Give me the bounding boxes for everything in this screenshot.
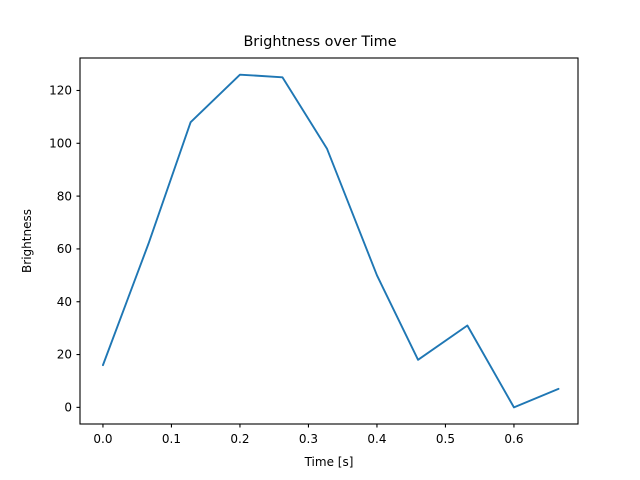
y-axis-label: Brightness — [20, 209, 34, 273]
x-tick-label: 0.0 — [93, 432, 112, 446]
x-tick-label: 0.2 — [230, 432, 249, 446]
x-tick-label: 0.3 — [299, 432, 318, 446]
x-tick-label: 0.1 — [162, 432, 181, 446]
brightness-over-time-chart: Brightness over Time 0.00.10.20.30.40.50… — [0, 0, 640, 480]
y-tick-label: 100 — [49, 136, 72, 150]
y-tick-label: 80 — [57, 189, 72, 203]
x-axis-label: Time [s] — [304, 455, 354, 469]
y-tick-label: 0 — [64, 401, 72, 415]
figure-canvas: Brightness over Time 0.00.10.20.30.40.50… — [0, 0, 640, 480]
y-tick-label: 120 — [49, 84, 72, 98]
y-tick-label: 60 — [57, 242, 72, 256]
x-tick-label: 0.5 — [436, 432, 455, 446]
x-tick-label: 0.4 — [367, 432, 386, 446]
y-tick-label: 20 — [57, 348, 72, 362]
y-tick-label: 40 — [57, 295, 72, 309]
x-tick-label: 0.6 — [504, 432, 523, 446]
figure-background — [0, 0, 640, 480]
chart-title: Brightness over Time — [243, 34, 396, 50]
